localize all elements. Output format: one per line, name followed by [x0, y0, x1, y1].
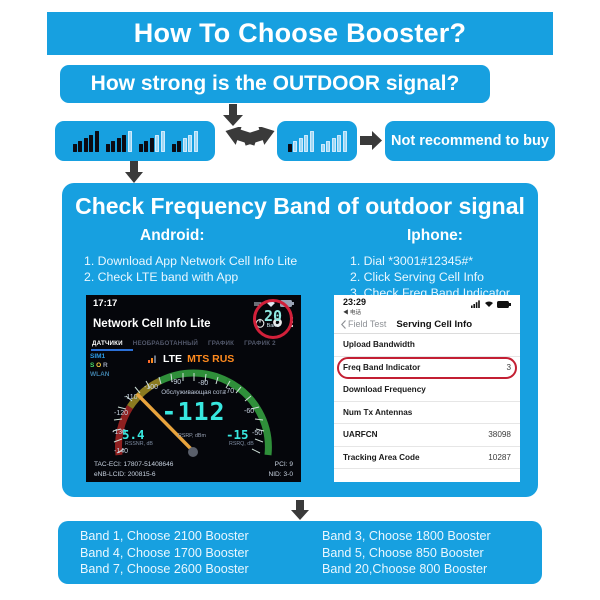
table-row[interactable]: Upload Bandwidth	[334, 334, 520, 357]
back-button[interactable]: Field Test	[341, 319, 386, 329]
tab-sensors[interactable]: ДАТЧИКИ	[92, 340, 123, 347]
chevron-left-icon	[341, 320, 346, 329]
android-step: 1. Download App Network Cell Info Lite	[84, 253, 334, 269]
row-key: Tracking Area Code	[343, 453, 420, 462]
iphone-steps: 1. Dial *3001#12345#* 2. Click Serving C…	[350, 253, 535, 301]
band-indicator-highlight: 20 Band	[253, 299, 293, 339]
signal-bars-icon	[288, 130, 314, 152]
nid: NID: 3-0	[268, 470, 293, 480]
gauge-value: -112	[86, 397, 301, 426]
iphone-nav-title: Serving Cell Info	[396, 319, 472, 330]
signal-bars-icon	[73, 130, 99, 152]
android-steps: 1. Download App Network Cell Info Lite 2…	[84, 253, 334, 285]
rssnr-value: 5.4	[122, 427, 145, 442]
svg-text:-80: -80	[198, 380, 208, 387]
row-key: Download Frequency	[343, 385, 426, 394]
iphone-screenshot: 23:29 ◀ 电话 Field Test Serving Cell Info …	[334, 295, 520, 482]
band-recommendation-box: Band 1, Choose 2100 Booster Band 4, Choo…	[58, 521, 542, 584]
panel-title: Check Frequency Band of outdoor signal	[62, 193, 538, 220]
row-key: Freq Band Indicator	[343, 363, 420, 372]
android-cell-details: TAC-ECI: 17807-51408646 PCI: 9 eNB-LCID:…	[86, 460, 301, 479]
iphone-step: 1. Dial *3001#12345#*	[350, 253, 535, 269]
band-item: Band 3, Choose 1800 Booster	[322, 528, 542, 545]
table-row[interactable]: UARFCN 38098	[334, 424, 520, 447]
page-title-banner: How To Choose Booster?	[47, 12, 553, 55]
not-recommend-box: Not recommend to buy	[385, 121, 555, 161]
arrow-down-to-panel	[124, 161, 144, 183]
band-item: Band 4, Choose 1700 Booster	[80, 545, 300, 562]
iphone-nav-bar: Field Test Serving Cell Info	[334, 315, 520, 334]
arrow-right-to-not-recommend	[360, 131, 382, 150]
frequency-band-panel: Check Frequency Band of outdoor signal A…	[62, 183, 538, 497]
table-row[interactable]: Num Tx Antennas	[334, 402, 520, 425]
android-heading: Android:	[140, 227, 205, 245]
signal-bars-icon	[139, 130, 165, 152]
rsrq-value: -15	[226, 427, 249, 442]
arrow-branch-right	[243, 127, 275, 153]
gauge-caption: Обслуживающая сота	[86, 389, 301, 396]
tab-graph[interactable]: ГРАФИК	[208, 340, 234, 347]
band-item: Band 20,Choose 800 Booster	[322, 561, 542, 578]
table-row[interactable]: Tracking Area Code 10287	[334, 447, 520, 470]
band-item: Band 7, Choose 2600 Booster	[80, 561, 300, 578]
weak-signal-box	[277, 121, 357, 161]
tab-graph-2[interactable]: ГРАФИК 2	[244, 340, 276, 347]
sim-label: SIM1	[90, 352, 110, 361]
wifi-icon	[484, 300, 494, 308]
signal-gauge: -140 -130 -120 -110 -100 -90 -80 -70 -60…	[86, 363, 301, 460]
table-row[interactable]: Download Frequency	[334, 379, 520, 402]
gauge-unit-label: RSRP, dBm	[178, 433, 206, 439]
band-caption: Band	[267, 323, 280, 329]
android-step: 2. Check LTE band with App	[84, 269, 334, 285]
cellular-signal-icon	[471, 300, 481, 308]
row-value: 10287	[488, 453, 511, 462]
band-column-left: Band 1, Choose 2100 Booster Band 4, Choo…	[58, 528, 300, 584]
infographic-page: How To Choose Booster? How strong is the…	[0, 0, 600, 600]
android-app-title: Network Cell Info Lite	[93, 318, 248, 330]
question-pill: How strong is the OUTDOOR signal?	[60, 65, 490, 103]
row-key: Num Tx Antennas	[343, 408, 412, 417]
band-column-right: Band 3, Choose 1800 Booster Band 5, Choo…	[300, 528, 542, 584]
band-item: Band 5, Choose 850 Booster	[322, 545, 542, 562]
enb-lcid: eNB-LCID: 200815-6	[94, 470, 156, 480]
signal-bars-icon	[106, 130, 132, 152]
signal-bars-icon	[148, 354, 158, 363]
arrow-down-from-question	[222, 104, 244, 126]
svg-text:-140: -140	[114, 448, 128, 455]
table-row-freq-band-indicator[interactable]: Freq Band Indicator 3	[334, 357, 520, 380]
pci: PCI: 9	[275, 460, 293, 470]
back-label: Field Test	[348, 319, 386, 329]
iphone-status-back: ◀ 电话	[343, 308, 366, 316]
battery-icon	[497, 301, 511, 308]
signal-bars-icon	[172, 130, 198, 152]
band-number: 20	[264, 309, 282, 323]
strong-signal-box	[55, 121, 215, 161]
row-value: 3	[506, 363, 511, 372]
page-title: How To Choose Booster?	[134, 18, 466, 49]
arrow-down-to-bands	[290, 500, 310, 520]
row-key: Upload Bandwidth	[343, 340, 415, 349]
iphone-status-time: 23:29	[343, 297, 366, 307]
tab-active-underline	[91, 349, 133, 351]
android-screenshot: 17:17 Network Cell Info Lite	[86, 295, 301, 482]
android-status-time: 17:17	[93, 298, 117, 309]
iphone-heading: Iphone:	[407, 227, 463, 245]
not-recommend-label: Not recommend to buy	[391, 133, 549, 149]
tab-raw[interactable]: НЕОБРАБОТАННЫЙ	[133, 340, 198, 347]
rsrq-label: RSRQ, dB	[229, 441, 254, 447]
signal-bars-icon	[321, 130, 347, 152]
svg-text:-90: -90	[171, 379, 181, 386]
svg-text:-50: -50	[252, 430, 262, 437]
iphone-status-bar: 23:29 ◀ 电话	[334, 295, 520, 315]
question-text: How strong is the OUTDOOR signal?	[91, 72, 460, 96]
row-value: 38098	[488, 430, 511, 439]
row-key: UARFCN	[343, 430, 378, 439]
rssnr-label: RSSNR, dB	[125, 441, 153, 447]
band-item: Band 1, Choose 2100 Booster	[80, 528, 300, 545]
tac-eci: TAC-ECI: 17807-51408646	[94, 460, 173, 470]
iphone-step: 2. Click Serving Cell Info	[350, 269, 535, 285]
